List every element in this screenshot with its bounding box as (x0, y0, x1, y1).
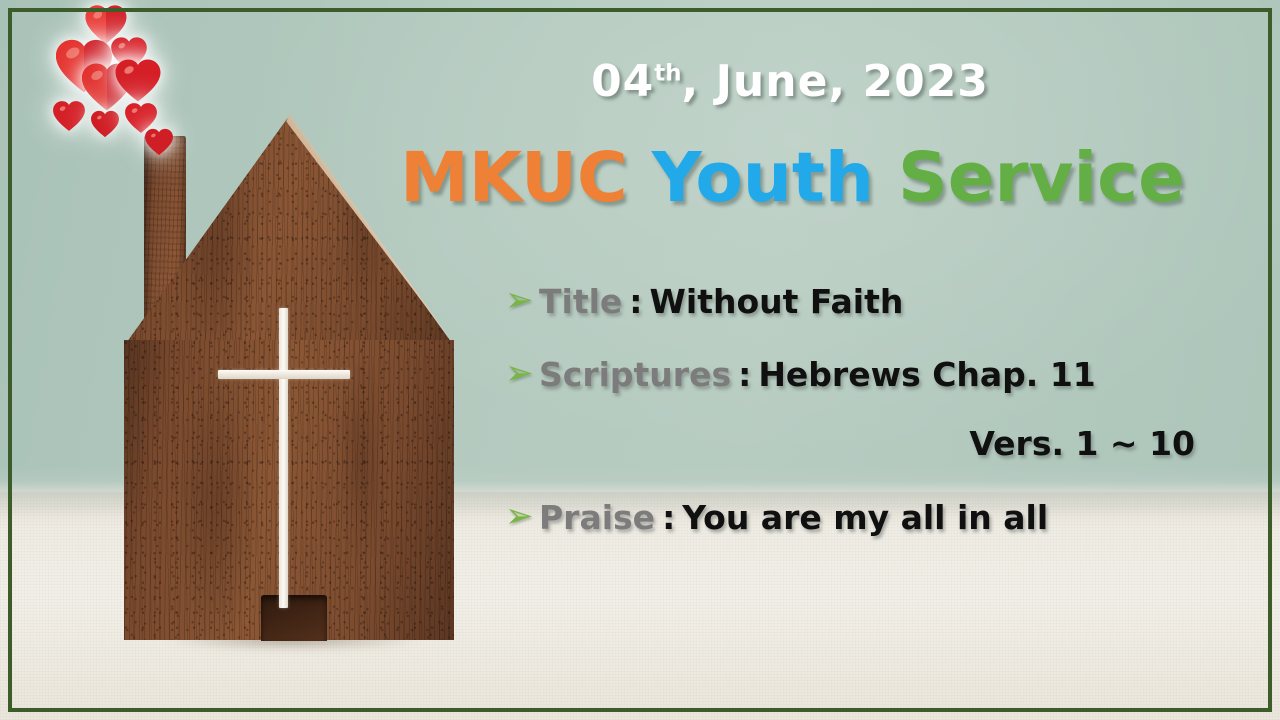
detail-separator: : (731, 355, 758, 394)
detail-label: Scriptures (539, 355, 731, 394)
detail-separator: : (622, 282, 649, 321)
detail-label: Praise (539, 498, 655, 537)
title-word-org: MKUC (400, 138, 628, 218)
list-item-title: ➢ Title : Without Faith (505, 282, 903, 321)
detail-value: Without Faith (650, 282, 904, 321)
title-word-service: Service (898, 138, 1185, 218)
title-space-1 (628, 138, 652, 218)
date-ordinal-suffix: th (654, 60, 681, 86)
title-word-youth: Youth (652, 138, 874, 218)
detail-separator: : (655, 498, 682, 537)
arrow-bullet-icon: ➢ (505, 283, 539, 317)
service-date: 04th, June, 2023 (380, 56, 1200, 107)
arrow-bullet-icon: ➢ (505, 356, 539, 390)
date-rest: , June, 2023 (682, 56, 989, 107)
slide-text-content: 04th, June, 2023 MKUC Youth Service ➢ Ti… (0, 0, 1280, 720)
list-item-praise: ➢ Praise : You are my all in all (505, 498, 1048, 537)
detail-value: You are my all in all (682, 498, 1048, 537)
service-announcement-slide: 04th, June, 2023 MKUC Youth Service ➢ Ti… (0, 0, 1280, 720)
title-space-2 (874, 138, 898, 218)
arrow-bullet-icon: ➢ (505, 499, 539, 533)
date-day: 04 (591, 56, 654, 107)
detail-value: Hebrews Chap. 11 (758, 355, 1095, 394)
detail-label: Title (539, 282, 622, 321)
page-title: MKUC Youth Service (380, 138, 1205, 218)
list-item-scriptures: ➢ Scriptures : Hebrews Chap. 11 (505, 355, 1096, 394)
list-item-verses: Vers. 1 ~ 10 (505, 424, 1195, 463)
